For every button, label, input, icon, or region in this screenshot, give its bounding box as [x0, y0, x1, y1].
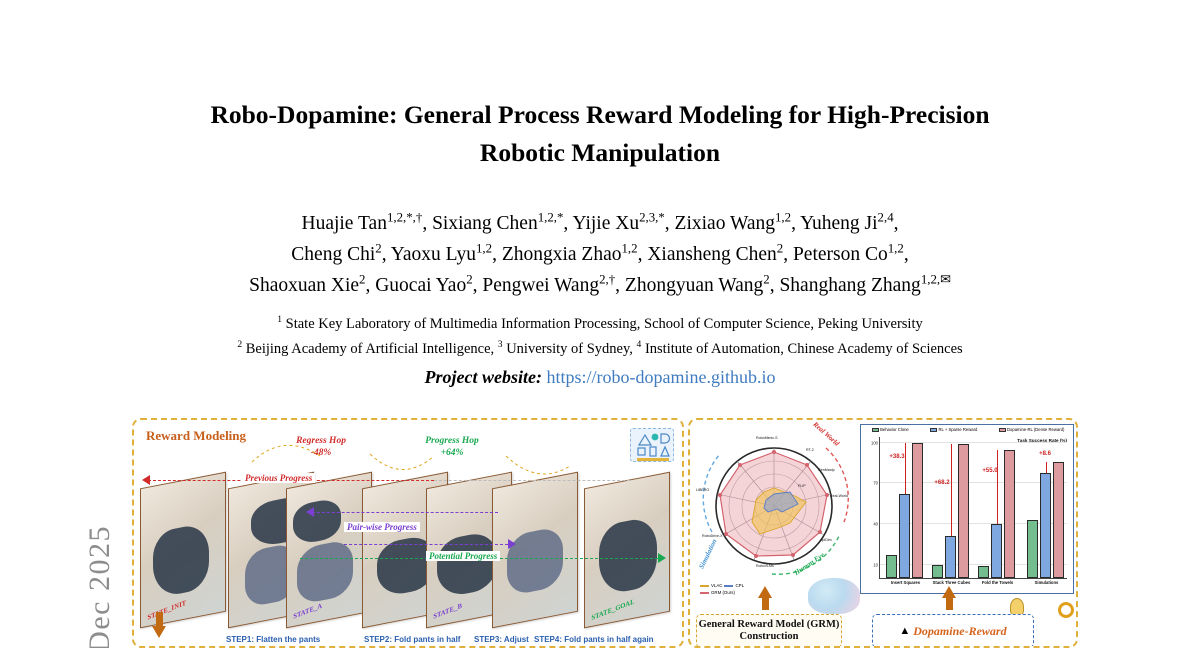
step-caption: STEP2: Fold pants in half — [364, 635, 460, 644]
delta-connector — [905, 443, 906, 494]
paper-page: cs.RO] 29 Dec 2025 Robo-Dopamine: Genera… — [0, 0, 1200, 648]
state-frame: STATE_INIT — [140, 472, 226, 629]
dopamine-up-arrow-head — [942, 586, 956, 598]
pairwise-progress-arrow-upper — [312, 512, 498, 513]
bar — [1027, 520, 1038, 578]
step-caption: STEP4: Fold pants in half again — [534, 635, 654, 644]
previous-progress-trail — [434, 480, 630, 481]
gear-icon — [1058, 602, 1074, 618]
project-website-label: Project website: — [425, 367, 542, 387]
arxiv-stamp-text: cs.RO] 29 Dec 2025 — [83, 97, 110, 648]
delta-connector — [951, 444, 952, 536]
bar-group-label: Fold the Towels — [976, 580, 1019, 585]
potential-progress-arrowhead — [658, 553, 666, 563]
reward-modeling-panel: Reward Modeling Regress Hop -48% Prog — [132, 418, 684, 648]
delta-label: +68.2 — [934, 480, 949, 486]
bar — [991, 524, 1002, 578]
radar-axis-label: RoboDrive-X — [702, 534, 723, 538]
bar-group-label: Simulations — [1025, 580, 1068, 585]
dopamine-reward-label: Dopamine-Reward — [913, 624, 1006, 639]
author-line: Huajie Tan1,2,*,†, Sixiang Chen1,2,*, Yi… — [120, 208, 1080, 239]
y-tick-label: 40 — [873, 521, 878, 526]
pairwise-arrowhead-left — [306, 507, 314, 517]
state-tag: STATE_GOAL — [591, 598, 635, 622]
project-website: Project website: https://robo-dopamine.g… — [150, 367, 1050, 388]
radar-axis-label: RoboMimic-S — [756, 436, 778, 440]
delta-label: +38.3 — [889, 454, 904, 460]
bar — [932, 565, 943, 579]
radar-axis-label: RoboVLMs — [756, 564, 774, 568]
bar — [912, 443, 923, 578]
radar-axis-label: LIBERO — [696, 488, 709, 492]
bar-chart-legend: Behavior Clone RL + Sparse Reward Dopami… — [861, 427, 1075, 432]
legend-swatch — [999, 428, 1006, 432]
state-tag: STATE_INIT — [147, 599, 187, 622]
author-line: Shaoxuan Xie2, Guocai Yao2, Pengwei Wang… — [120, 270, 1080, 301]
bar-group: +8.6 Simulations — [1025, 437, 1068, 578]
grm-up-arrow-head — [758, 586, 772, 598]
title-line-1: Robo-Dopamine: General Process Reward Mo… — [210, 100, 989, 129]
affiliation-line: 2 Beijing Academy of Artificial Intellig… — [100, 337, 1100, 362]
robot-diagram-icon — [630, 428, 674, 462]
y-tick-label: 70 — [873, 481, 878, 486]
legend-label: Dopamine-RL (Dense Reward) — [1007, 427, 1064, 432]
reward-modeling-title: Reward Modeling — [146, 428, 246, 444]
radar-axis-label: Real-World — [830, 494, 848, 498]
dopamine-up-arrow-stem — [946, 596, 953, 610]
grm-construction-label: General Reward Model (GRM) Construction — [697, 619, 841, 644]
delta-connector — [1046, 462, 1047, 473]
bar-legend-item: RL + Sparse Reward — [930, 427, 977, 432]
potential-progress-label: Potential Progress — [426, 551, 500, 561]
bar-chart-plot-area: 10 40 70 100 +38.3 Insert Squares — [879, 437, 1067, 579]
generate-label: Generate — [132, 599, 136, 638]
y-tick-label: 10 — [873, 562, 878, 567]
legend-swatch — [700, 585, 709, 587]
previous-progress-arrowhead — [142, 475, 150, 485]
grm-construction-box: General Reward Model (GRM) Construction — [696, 614, 842, 648]
bar — [1040, 473, 1051, 579]
dopamine-reward-box: ▲ Dopamine-Reward — [872, 614, 1034, 648]
project-website-link[interactable]: https://robo-dopamine.github.io — [546, 367, 775, 387]
arxiv-margin-stamp: cs.RO] 29 Dec 2025 — [0, 0, 110, 648]
legend-label: CPL — [735, 582, 744, 589]
bar-legend-item: Behavior Clone — [872, 427, 909, 432]
state-frame: STATE_A — [286, 472, 372, 629]
state-frame — [492, 472, 578, 629]
bar-group-label: Insert Squares — [884, 580, 927, 585]
progress-hop-label: Progress Hop +64% — [404, 436, 500, 459]
radar-axis-label: GenManip — [818, 468, 835, 472]
step-captions: STEP1: Flatten the pants STEP2: Fold pan… — [142, 630, 682, 644]
author-list: Huajie Tan1,2,*,†, Sixiang Chen1,2,*, Yi… — [120, 208, 1080, 301]
title-line-2: Robotic Manipulation — [480, 138, 720, 167]
bar — [978, 566, 989, 578]
legend-label: GRM (Ours) — [711, 589, 735, 596]
bar — [1053, 462, 1064, 578]
bar-group: +68.2 Stack Three Cubes — [930, 437, 973, 578]
step-caption: STEP1: Flatten the pants — [226, 635, 320, 644]
pairwise-progress-label: Pair-wise Progress — [344, 522, 420, 532]
bar-group: +55.0 Fold the Towels — [976, 437, 1019, 578]
previous-progress-label: Previous Progress — [242, 473, 315, 483]
y-tick-label: 100 — [871, 440, 878, 445]
progress-hop-value: +64% — [441, 448, 464, 458]
bar — [1004, 450, 1015, 578]
bar-group-label: Stack Three Cubes — [930, 580, 973, 585]
pairwise-arrowhead-right — [508, 539, 516, 549]
bar — [886, 555, 897, 578]
delta-label: +55.0 — [982, 468, 997, 474]
results-charts-panel: Real World Human Eye Simulation RoboMimi… — [688, 418, 1078, 648]
brain-illustration — [808, 578, 860, 614]
state-frame: STATE_GOAL — [584, 472, 670, 629]
bar-chart: Behavior Clone RL + Sparse Reward Dopami… — [860, 424, 1074, 594]
state-frames-strip: STATE_INIT STATE_A STATE_B — [140, 472, 684, 648]
state-tag: STATE_A — [293, 602, 323, 621]
bar — [899, 494, 910, 578]
regress-hop-name: Regress Hop — [296, 436, 346, 446]
teaser-figure: Reward Modeling Regress Hop -48% Prog — [128, 415, 1082, 648]
progress-hop-name: Progress Hop — [425, 436, 479, 446]
trophy-icon: ▲ — [899, 625, 910, 637]
affiliation-line: 1 State Key Laboratory of Multimedia Inf… — [100, 312, 1100, 337]
radar-axis-label: RT-2 — [806, 448, 814, 452]
legend-label: VLAC — [711, 582, 722, 589]
legend-label: RL + Sparse Reward — [938, 427, 977, 432]
radar-chart-svg — [694, 422, 854, 582]
delta-connector — [997, 450, 998, 524]
bar-group: +38.3 Insert Squares — [884, 437, 927, 578]
pairwise-progress-arrow-lower — [344, 544, 508, 545]
legend-swatch — [872, 428, 879, 432]
bar — [945, 536, 956, 578]
affiliation-list: 1 State Key Laboratory of Multimedia Inf… — [100, 312, 1100, 362]
page-title: Robo-Dopamine: General Process Reward Mo… — [160, 96, 1040, 172]
radar-legend: VLAC CPL GRM (Ours) — [700, 582, 800, 596]
state-tag: STATE_B — [433, 602, 463, 621]
radar-legend-item: GRM (Ours) — [700, 589, 800, 596]
author-line: Cheng Chi2, Yaoxu Lyu1,2, Zhongxia Zhao1… — [120, 239, 1080, 270]
legend-swatch — [930, 428, 937, 432]
bar — [958, 444, 969, 578]
step-caption: STEP3: Adjust — [474, 635, 529, 644]
regress-hop-value: -48% — [311, 448, 332, 458]
legend-label: Behavior Clone — [880, 427, 909, 432]
delta-label: +8.6 — [1039, 451, 1051, 457]
legend-swatch — [700, 592, 709, 594]
regress-hop-label: Regress Hop -48% — [276, 436, 366, 459]
grm-up-arrow-stem — [762, 596, 769, 610]
radar-legend-item: VLAC CPL — [700, 582, 800, 589]
radar-axis-label: FLIP — [798, 484, 806, 488]
legend-swatch — [724, 585, 733, 587]
radar-axis-label: ApiDim — [820, 538, 832, 542]
bar-legend-item: Dopamine-RL (Dense Reward) — [999, 427, 1065, 432]
